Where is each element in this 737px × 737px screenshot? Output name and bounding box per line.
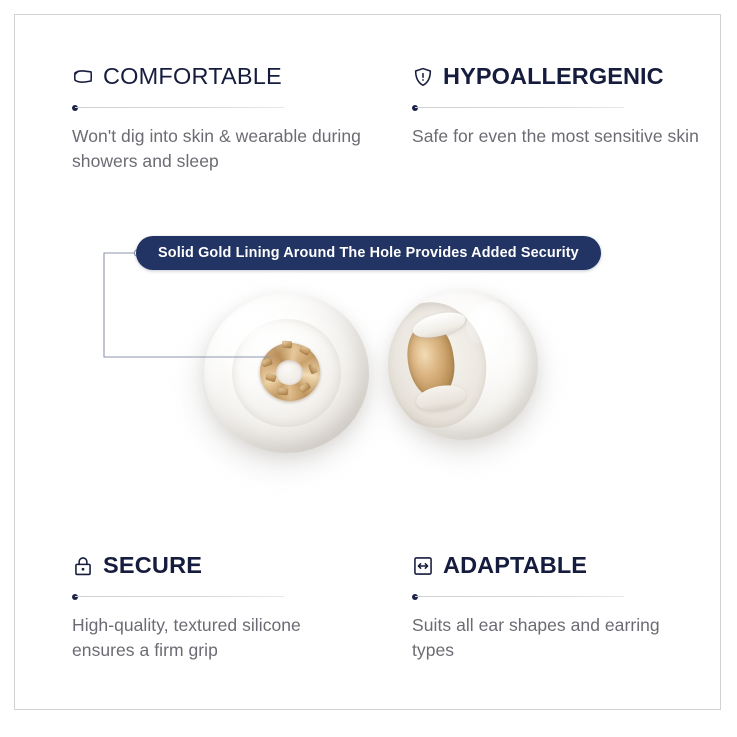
feature-divider	[412, 593, 702, 600]
feature-header: HYPOALLERGENIC	[412, 62, 702, 92]
gold-notch	[261, 358, 273, 368]
feature-divider	[72, 104, 362, 111]
product-photo	[120, 268, 590, 483]
divider-line	[75, 107, 284, 108]
divider-line	[75, 596, 284, 597]
gold-ring-insert	[260, 343, 320, 401]
gold-notch	[282, 341, 292, 349]
gold-notch	[299, 382, 311, 393]
pillow-icon	[72, 66, 94, 88]
feature-header: COMFORTABLE	[72, 62, 362, 92]
product-infographic: COMFORTABLE Won't dig into skin & wearab…	[0, 0, 737, 737]
specular-highlight	[466, 302, 518, 348]
divider-line	[415, 107, 624, 108]
feature-description: High-quality, textured silicone ensures …	[72, 613, 362, 663]
gold-notch	[265, 373, 277, 383]
callout-banner: Solid Gold Lining Around The Hole Provid…	[136, 236, 601, 270]
feature-adaptable: ADAPTABLE Suits all ear shapes and earri…	[412, 551, 702, 663]
feature-title: SECURE	[103, 554, 202, 578]
callout-text: Solid Gold Lining Around The Hole Provid…	[158, 246, 579, 260]
lock-icon	[72, 555, 94, 577]
feature-title: HYPOALLERGENIC	[443, 65, 664, 89]
resize-horizontal-icon	[412, 555, 434, 577]
feature-description: Won't dig into skin & wearable during sh…	[72, 124, 362, 174]
feature-header: ADAPTABLE	[412, 551, 702, 581]
feature-title: COMFORTABLE	[103, 65, 282, 89]
earring-back-angled-view	[388, 290, 538, 440]
feature-title: ADAPTABLE	[443, 554, 587, 578]
earring-back-front-view	[204, 293, 369, 453]
feature-comfortable: COMFORTABLE Won't dig into skin & wearab…	[72, 62, 362, 174]
feature-description: Safe for even the most sensitive skin	[412, 124, 702, 149]
feature-divider	[412, 104, 702, 111]
gold-notch	[308, 363, 318, 375]
feature-header: SECURE	[72, 551, 362, 581]
feature-divider	[72, 593, 362, 600]
feature-hypoallergenic: HYPOALLERGENIC Safe for even the most se…	[412, 62, 702, 149]
shield-icon	[412, 66, 434, 88]
feature-description: Suits all ear shapes and earring types	[412, 613, 702, 663]
feature-secure: SECURE High-quality, textured silicone e…	[72, 551, 362, 663]
divider-line	[415, 596, 624, 597]
earring-post-hole	[276, 360, 302, 386]
gold-notch	[278, 387, 289, 395]
